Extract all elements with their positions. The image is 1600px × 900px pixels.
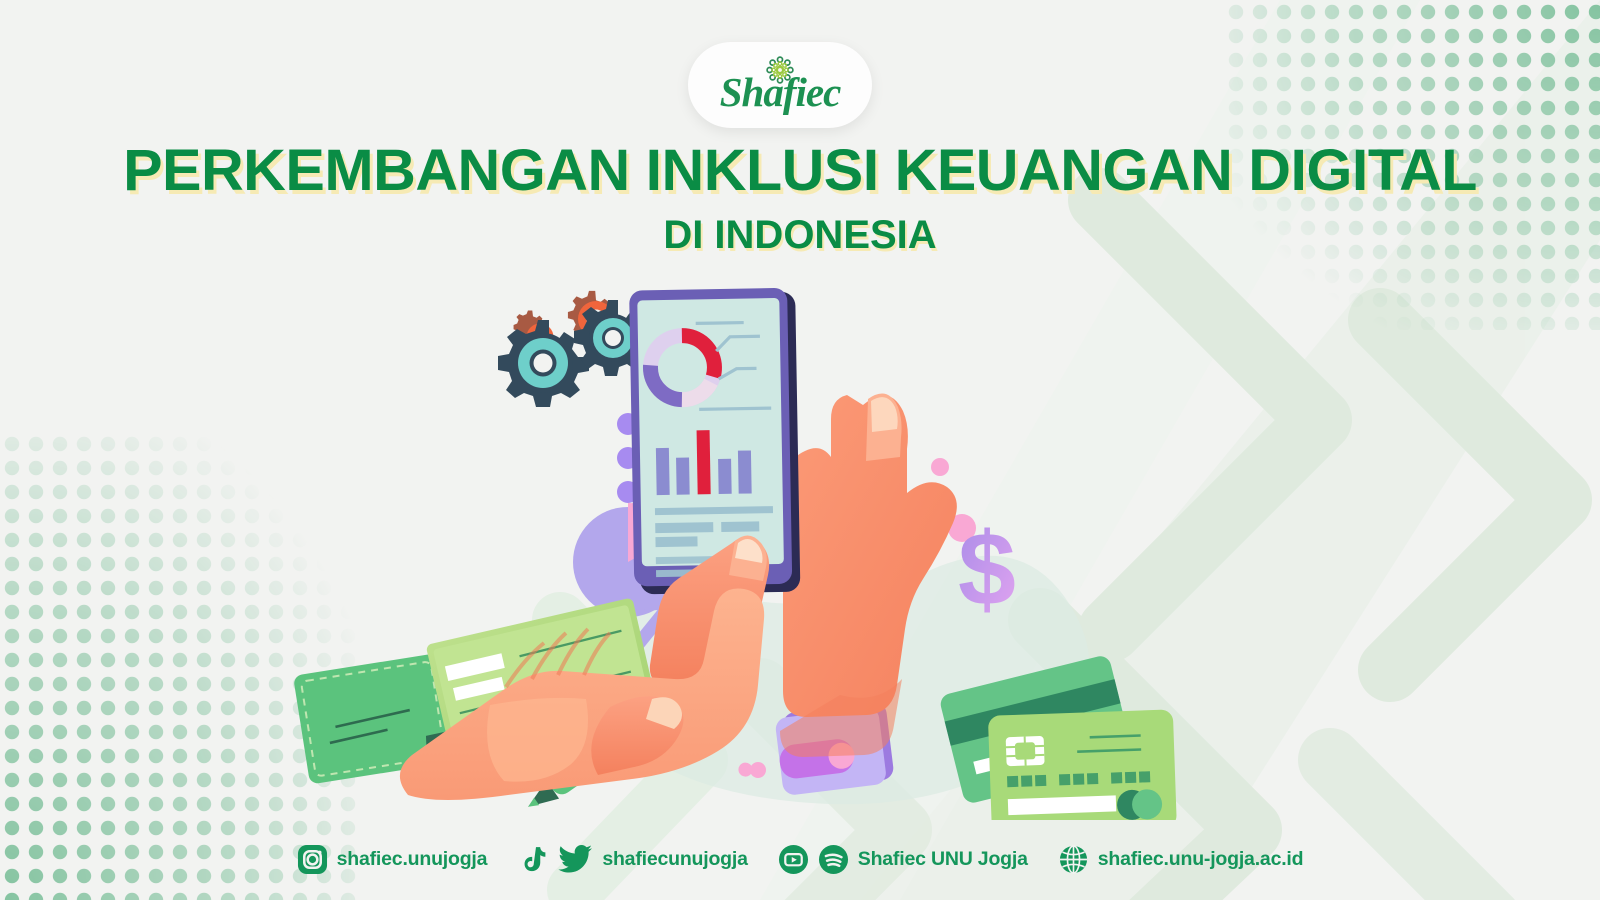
social-label-instagram: shafiec.unujogja <box>337 848 488 871</box>
page-title: PERKEMBANGAN INKLUSI KEUANGAN DIGITAL <box>0 142 1600 200</box>
social-item-instagram[interactable]: shafiec.unujogja <box>297 844 488 875</box>
poster-canvas: Shafiec PERKEMBANGAN INKLUSI KEUANGAN DI… <box>0 0 1600 900</box>
phone-graphic <box>629 288 800 595</box>
social-item-youtube-spotify[interactable]: Shafiec UNU Jogja <box>778 844 1028 875</box>
card-chip-icon <box>1006 736 1045 766</box>
dollar-sign-graphic: $ <box>958 512 1016 628</box>
page-subtitle: DI INDONESIA <box>0 215 1600 255</box>
youtube-icon[interactable] <box>778 844 809 875</box>
spotify-icon[interactable] <box>818 844 849 875</box>
social-label-website: shafiec.unu-jogja.ac.id <box>1098 848 1304 871</box>
social-label-youtube-spotify: Shafiec UNU Jogja <box>858 848 1028 871</box>
main-illustration: $ <box>280 275 1180 820</box>
social-label-tiktok-twitter: shafiecunujogja <box>602 848 747 871</box>
tiktok-icon[interactable] <box>517 844 548 875</box>
social-item-tiktok-twitter[interactable]: shafiecunujogja <box>517 841 747 877</box>
flower-ornament-icon <box>763 53 797 87</box>
dollar-symbol: $ <box>958 512 1016 628</box>
brand-logo-badge[interactable]: Shafiec <box>688 42 872 128</box>
social-item-website[interactable]: shafiec.unu-jogja.ac.id <box>1058 844 1304 875</box>
card-brand-logo <box>1117 789 1163 820</box>
globe-icon[interactable] <box>1058 844 1089 875</box>
instagram-icon[interactable] <box>297 844 328 875</box>
social-footer: shafiec.unujogja shafiecunujogja <box>0 834 1600 884</box>
twitter-icon[interactable] <box>557 841 593 877</box>
gears-group <box>498 291 651 407</box>
